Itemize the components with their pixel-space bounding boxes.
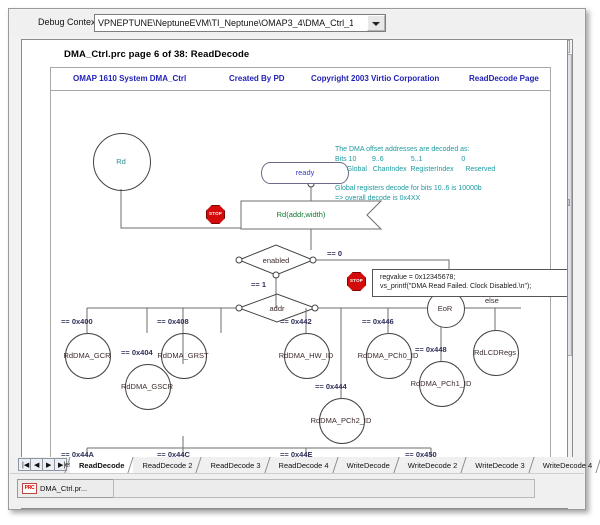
debug-context-bar: Debug Context: VPNEPTUNE\NeptuneEVM\TI_N… <box>10 10 584 36</box>
state-node-label-1: RdDMA_GSCR <box>121 382 173 391</box>
state-node-label-7: RdLCDRegs <box>474 348 516 357</box>
page-title: DMA_Ctrl.prc page 6 of 38: ReadDecode <box>64 49 249 60</box>
state-diagram[interactable]: OMAP 1610 System DMA_Ctrl Created By PD … <box>50 67 551 468</box>
tab-writedecode-3[interactable]: WriteDecode 3 <box>466 457 533 473</box>
branch-label-enabled-one: == 1 <box>251 280 266 289</box>
code-action-box[interactable]: regvalue = 0x12345678; vs_printf("DMA Re… <box>372 269 568 297</box>
annotation-line-6: => overall decode is 0x4XX <box>335 194 420 204</box>
taskbar-item-label: DMA_Ctrl.pr... <box>40 484 87 493</box>
branch-cond-6: == 0x448 <box>415 345 447 354</box>
state-node-label-3: RdDMA_HW_ID <box>279 351 334 360</box>
branch-label-enabled-zero: == 0 <box>327 249 342 258</box>
branch-cond-3: == 0x442 <box>280 317 312 326</box>
branch-cond-2: == 0x408 <box>157 317 189 326</box>
stop-icon-text: STOP <box>347 278 366 283</box>
tab-readdecode[interactable]: ReadDecode <box>70 457 133 473</box>
branch-cond-5: == 0x444 <box>315 382 347 391</box>
chevron-down-icon[interactable] <box>367 15 385 31</box>
branch-cond-4: == 0x446 <box>362 317 394 326</box>
decision-enabled-label: enabled <box>263 256 290 265</box>
state-node-label-5: RdDMA_PCh2_ID <box>311 416 372 425</box>
tab-writedecode-2[interactable]: WriteDecode 2 <box>399 457 466 473</box>
stop-icon-action[interactable]: STOP <box>206 205 225 224</box>
taskbar-empty-area <box>113 479 535 498</box>
application-window: Debug Context: VPNEPTUNE\NeptuneEVM\TI_N… <box>8 8 586 510</box>
annotation-line-1: The DMA offset addresses are decoded as: <box>335 145 470 155</box>
state-node-rd-label: Rd <box>116 157 126 166</box>
tab-list[interactable]: ReadDecode ReadDecode 2 ReadDecode 3 Rea… <box>70 457 600 473</box>
state-node-label-2: RdDMA_GRST <box>157 351 208 360</box>
code-line-2: vs_printf("DMA Read Failed. Clock Disabl… <box>380 283 531 290</box>
state-node-label-6: RdDMA_PCh1_ID <box>411 379 472 388</box>
state-node-eor-label: EoR <box>438 304 453 313</box>
tab-first-icon: |◀ <box>22 460 29 471</box>
diagram-connectors <box>51 68 550 468</box>
debug-context-value: VPNEPTUNE\NeptuneEVM\TI_Neptune\OMAP3_4\… <box>98 18 353 28</box>
state-node-label-0: RdDMA_GCR <box>63 351 110 360</box>
taskbar-item-dma-ctrl[interactable]: PRC DMA_Ctrl.pr... <box>17 479 119 498</box>
annotation-text: The DMA offset addresses are decoded as:… <box>335 145 351 216</box>
branch-cond-1: == 0x404 <box>121 348 153 357</box>
tab-writedecode[interactable]: WriteDecode <box>338 457 399 473</box>
action-banner[interactable]: Rd(addr,width) <box>241 201 381 229</box>
diagram-canvas[interactable]: DMA_Ctrl.prc page 6 of 38: ReadDecode OM… <box>21 39 568 473</box>
annotation-line-2: Bits 10 9..6 5..1 0 <box>335 155 465 165</box>
annotation-line-5: Global registers decode for bits 10..6 i… <box>335 184 482 194</box>
tab-readdecode-3[interactable]: ReadDecode 3 <box>201 457 269 473</box>
debug-context-label: Debug Context: <box>38 17 101 27</box>
prc-file-icon: PRC <box>22 483 37 494</box>
annotation-line-3: Global ChanIndex RegisterIndex Reserved <box>335 165 495 175</box>
debug-context-combobox[interactable]: VPNEPTUNE\NeptuneEVM\TI_Neptune\OMAP3_4\… <box>94 14 386 32</box>
stop-icon-text: STOP <box>206 211 225 216</box>
code-line-1: regvalue = 0x12345678; <box>380 274 455 281</box>
taskbar: PRC DMA_Ctrl.pr... <box>10 473 584 508</box>
stop-icon-code[interactable]: STOP <box>347 272 366 291</box>
tab-nav-buttons[interactable]: |◀ ◀ ▶ ▶| <box>18 458 66 471</box>
tab-readdecode-4[interactable]: ReadDecode 4 <box>270 457 338 473</box>
tab-strip[interactable]: |◀ ◀ ▶ ▶| et ReadDecode ReadDecode 2 Rea… <box>10 457 584 473</box>
decision-addr-label: addr <box>269 304 284 313</box>
tab-writedecode-4[interactable]: WriteDecode 4 <box>534 457 600 473</box>
branch-cond-0: == 0x400 <box>61 317 93 326</box>
branch-label-else: else <box>485 296 499 305</box>
state-node-label-4: RdDMA_PCh0_ID <box>358 351 419 360</box>
tab-readdecode-2[interactable]: ReadDecode 2 <box>133 457 201 473</box>
tab-prev-icon: ◀ <box>34 460 39 471</box>
tab-next-icon: ▶ <box>46 460 51 471</box>
